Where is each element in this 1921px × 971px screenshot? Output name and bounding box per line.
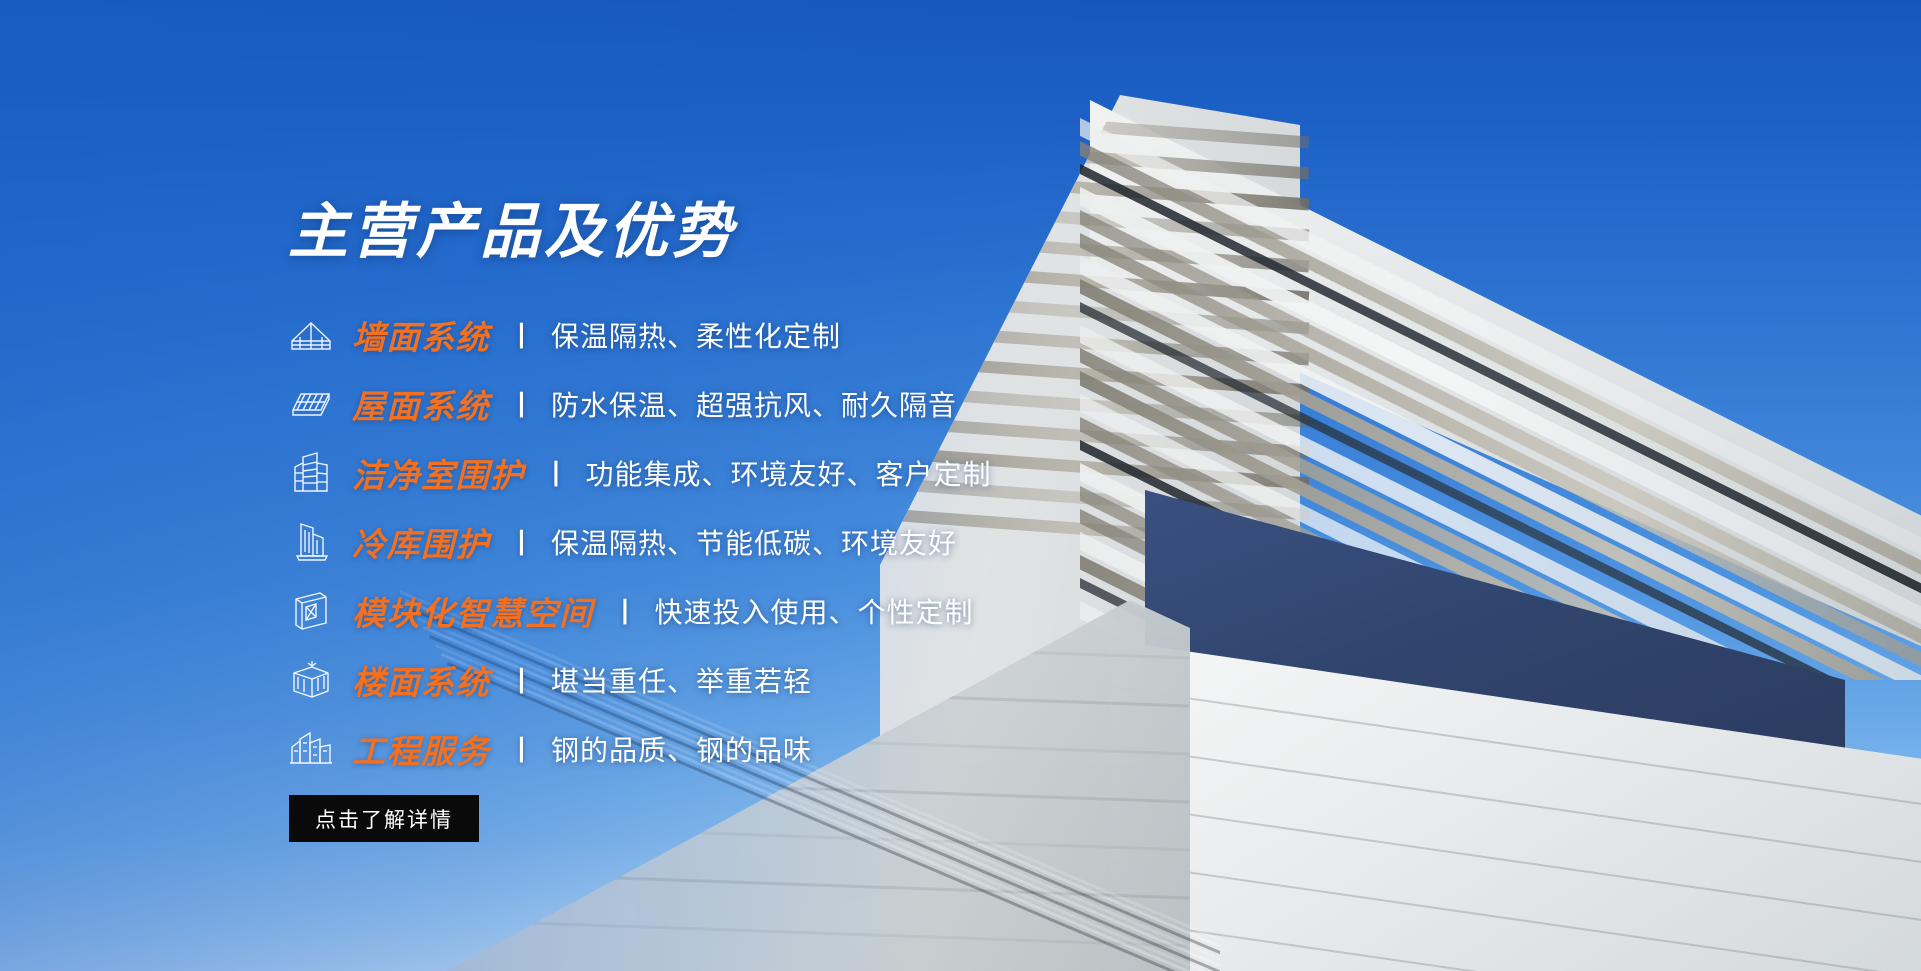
- list-item[interactable]: 冷库围护 丨 保温隔热、节能低碳、环境友好: [288, 507, 1438, 576]
- page-title: 主营产品及优势: [288, 202, 736, 262]
- separator: 丨: [508, 315, 535, 354]
- list-item[interactable]: 楼面系统 丨 堪当重任、举重若轻: [288, 645, 1438, 714]
- list-item[interactable]: 工程服务 丨 钢的品质、钢的品味: [288, 714, 1438, 783]
- list-item[interactable]: 模块化智慧空间 丨 快速投入使用、个性定制: [288, 576, 1438, 645]
- product-desc: 防水保温、超强抗风、耐久隔音: [551, 384, 957, 424]
- separator: 丨: [543, 453, 570, 492]
- engineering-service-icon: [288, 726, 334, 772]
- product-title: 屋面系统: [352, 380, 490, 428]
- roof-panel-icon: [288, 381, 334, 427]
- product-title: 楼面系统: [352, 656, 490, 704]
- hero-content: 主营产品及优势 墙面系统 丨 保温隔热、柔性化定制: [0, 0, 1921, 971]
- product-title: 模块化智慧空间: [352, 587, 594, 635]
- modular-cube-icon: [288, 588, 334, 634]
- cold-storage-icon: [288, 519, 334, 565]
- product-desc: 快速投入使用、个性定制: [655, 591, 974, 631]
- product-desc: 堪当重任、举重若轻: [551, 660, 812, 700]
- product-list: 墙面系统 丨 保温隔热、柔性化定制 屋面系统 丨 防水保温、超强抗风、耐久隔音: [288, 300, 1438, 783]
- list-item[interactable]: 屋面系统 丨 防水保温、超强抗风、耐久隔音: [288, 369, 1438, 438]
- separator: 丨: [612, 591, 639, 630]
- separator: 丨: [508, 660, 535, 699]
- product-desc: 钢的品质、钢的品味: [551, 729, 812, 769]
- product-title: 洁净室围护: [352, 449, 525, 497]
- wall-frame-icon: [288, 312, 334, 358]
- product-title: 墙面系统: [352, 311, 490, 359]
- separator: 丨: [508, 729, 535, 768]
- cleanroom-tower-icon: [288, 450, 334, 496]
- list-item[interactable]: 洁净室围护 丨 功能集成、环境友好、客户定制: [288, 438, 1438, 507]
- list-item[interactable]: 墙面系统 丨 保温隔热、柔性化定制: [288, 300, 1438, 369]
- separator: 丨: [508, 384, 535, 423]
- product-desc: 保温隔热、柔性化定制: [551, 315, 841, 355]
- product-title: 工程服务: [352, 725, 490, 773]
- product-desc: 功能集成、环境友好、客户定制: [586, 453, 992, 493]
- learn-more-button[interactable]: 点击了解详情: [289, 795, 479, 842]
- separator: 丨: [508, 522, 535, 561]
- product-desc: 保温隔热、节能低碳、环境友好: [551, 522, 957, 562]
- product-title: 冷库围护: [352, 518, 490, 566]
- hero-banner: 主营产品及优势 墙面系统 丨 保温隔热、柔性化定制: [0, 0, 1921, 971]
- floor-deck-icon: [288, 657, 334, 703]
